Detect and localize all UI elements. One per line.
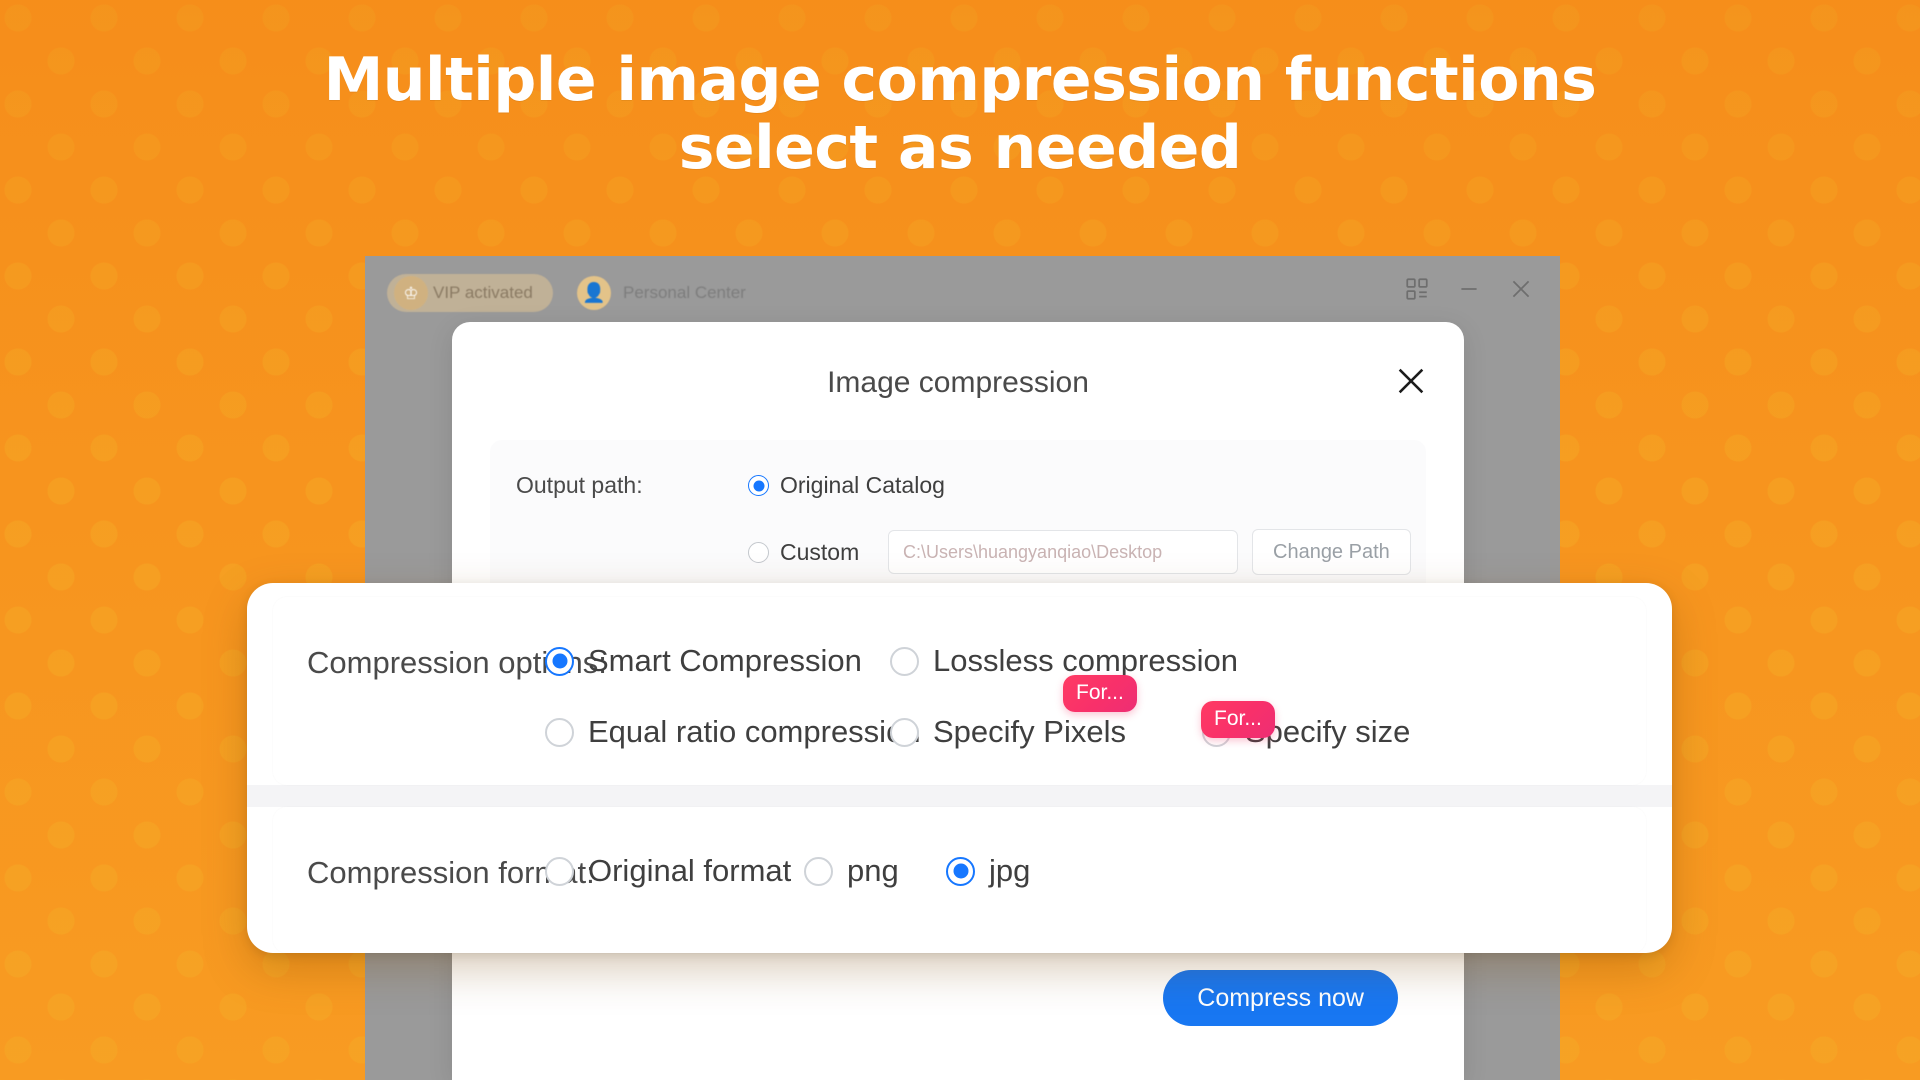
crown-icon: ♔: [394, 276, 428, 310]
change-path-button[interactable]: Change Path: [1252, 529, 1411, 575]
headline-line-2: select as needed: [0, 114, 1920, 182]
dialog-close-icon[interactable]: [1394, 364, 1428, 398]
vip-activated-badge[interactable]: ♔ VIP activated: [387, 274, 553, 312]
radio-label-jpg: jpg: [989, 853, 1030, 889]
output-path-row-1: Output path: Original Catalog: [516, 472, 1426, 499]
radio-label-png: png: [847, 853, 899, 889]
compression-options-card: Compression options: Smart Compression L…: [273, 597, 1646, 785]
output-path-label: Output path:: [516, 472, 748, 499]
radio-dot-jpg: [946, 857, 975, 886]
compress-now-button[interactable]: Compress now: [1163, 970, 1398, 1026]
radio-dot-lossless-compression: [890, 647, 919, 676]
radio-dot-equal-ratio: [545, 718, 574, 747]
card-divider: [247, 785, 1672, 807]
user-avatar-icon: 👤: [577, 276, 611, 310]
radio-original-format[interactable]: Original format: [545, 853, 791, 889]
window-controls: [1404, 276, 1534, 302]
apps-grid-icon[interactable]: [1404, 276, 1430, 302]
radio-label-equal-ratio: Equal ratio compression: [588, 714, 921, 750]
radio-label-specify-pixels: Specify Pixels: [933, 714, 1126, 750]
close-icon[interactable]: [1508, 276, 1534, 302]
radio-dot-original-catalog: [748, 475, 769, 496]
radio-dot-specify-pixels: [890, 718, 919, 747]
radio-lossless-compression[interactable]: Lossless compression: [890, 643, 1238, 679]
radio-png[interactable]: png: [804, 853, 899, 889]
radio-label-smart-compression: Smart Compression: [588, 643, 862, 679]
magnified-options-overlay: Compression options: Smart Compression L…: [247, 583, 1672, 953]
radio-dot-custom: [748, 542, 769, 563]
radio-equal-ratio-compression[interactable]: Equal ratio compression: [545, 714, 921, 750]
radio-label-lossless-compression: Lossless compression: [933, 643, 1238, 679]
badge-specify-pixels[interactable]: For...: [1063, 675, 1137, 712]
radio-dot-smart-compression: [545, 647, 574, 676]
radio-label-custom: Custom: [780, 539, 859, 566]
radio-smart-compression[interactable]: Smart Compression: [545, 643, 862, 679]
page-headline: Multiple image compression functions sel…: [0, 46, 1920, 183]
radio-custom-path[interactable]: Custom: [748, 539, 888, 566]
page-background: Multiple image compression functions sel…: [0, 0, 1920, 1080]
vip-activated-label: VIP activated: [433, 283, 533, 303]
compression-format-card: Compression format: Original format png …: [273, 807, 1646, 953]
radio-dot-png: [804, 857, 833, 886]
radio-jpg[interactable]: jpg: [946, 853, 1030, 889]
personal-center-label: Personal Center: [623, 283, 746, 303]
radio-dot-original-format: [545, 857, 574, 886]
personal-center-button[interactable]: 👤 Personal Center: [577, 274, 746, 312]
badge-specify-size[interactable]: For...: [1201, 701, 1275, 738]
radio-original-catalog[interactable]: Original Catalog: [748, 472, 945, 499]
radio-label-original-format: Original format: [588, 853, 791, 889]
app-titlebar: ♔ VIP activated 👤 Personal Center: [365, 256, 1560, 328]
dialog-title: Image compression: [452, 366, 1464, 400]
output-path-row-2: Custom Change Path: [516, 529, 1426, 575]
minimize-icon[interactable]: [1456, 276, 1482, 302]
headline-line-1: Multiple image compression functions: [0, 46, 1920, 114]
radio-label-original-catalog: Original Catalog: [780, 472, 945, 499]
custom-path-input[interactable]: [888, 530, 1238, 574]
radio-specify-pixels[interactable]: Specify Pixels: [890, 714, 1126, 750]
